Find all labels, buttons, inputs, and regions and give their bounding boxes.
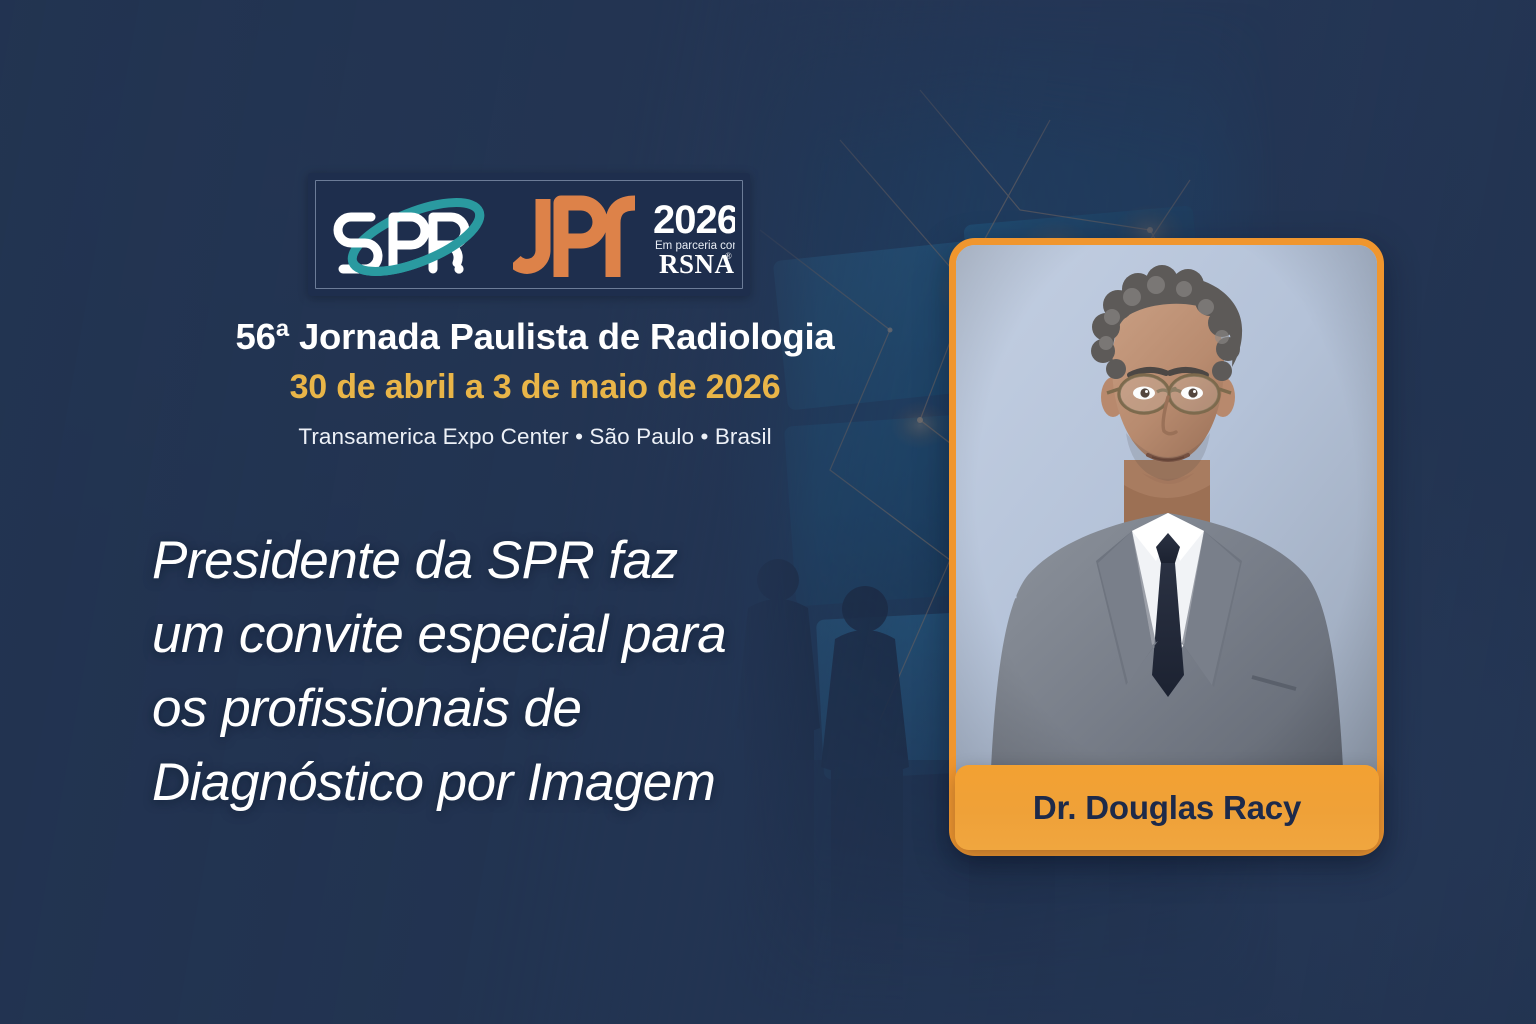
event-title: 56ª Jornada Paulista de Radiologia — [155, 316, 915, 358]
jpr-spr-logo-lockup: 2026 Em parceria com RSNA ® — [308, 173, 750, 296]
event-venue: Transamerica Expo Center • São Paulo • B… — [155, 424, 915, 450]
spr-logo-icon — [323, 193, 509, 277]
jpr-2026-rsna-logo-icon: 2026 Em parceria com RSNA ® — [513, 189, 735, 281]
svg-text:RSNA: RSNA — [659, 249, 735, 279]
headline: Presidente da SPR faz um convite especia… — [152, 524, 892, 820]
headline-line-3: os profissionais de — [152, 672, 892, 746]
speaker-name: Dr. Douglas Racy — [1033, 789, 1301, 827]
announcement-banner: 2026 Em parceria com RSNA ® 56ª Jornada … — [0, 0, 1536, 1024]
svg-text:2026: 2026 — [653, 198, 735, 242]
headline-line-4: Diagnóstico por Imagem — [152, 746, 892, 820]
svg-text:®: ® — [725, 251, 732, 261]
speaker-nameplate: Dr. Douglas Racy — [955, 765, 1379, 850]
event-dates: 30 de abril a 3 de maio de 2026 — [155, 368, 915, 407]
speaker-portrait-photo — [956, 245, 1377, 849]
headline-line-2: um convite especial para — [152, 598, 892, 672]
headline-line-1: Presidente da SPR faz — [152, 524, 892, 598]
speaker-photo-frame — [949, 238, 1384, 856]
